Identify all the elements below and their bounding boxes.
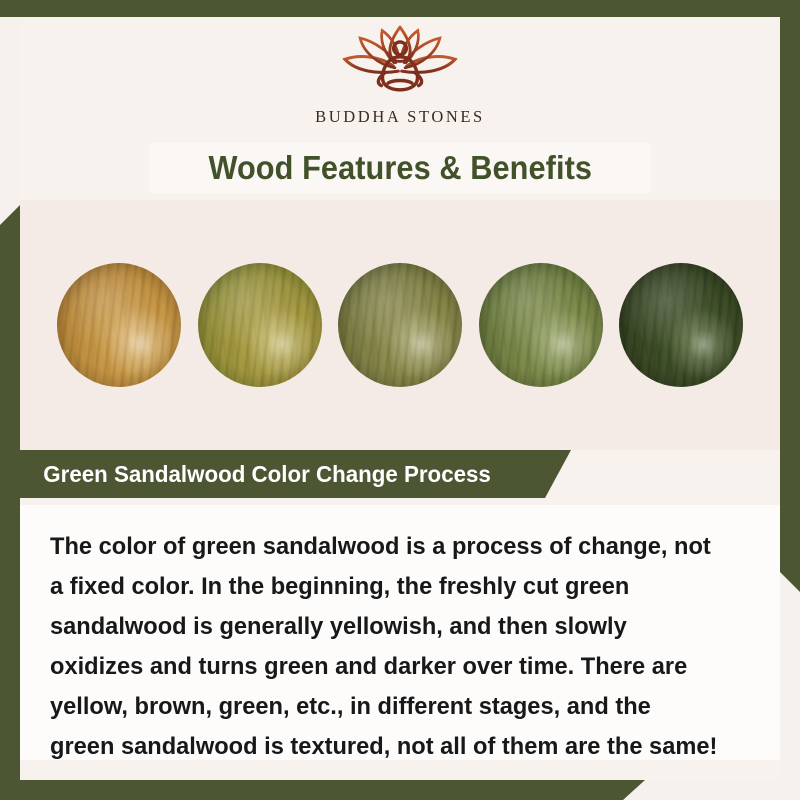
section-banner: Green Sandalwood Color Change Process	[20, 450, 571, 498]
wood-bead-3	[338, 263, 462, 387]
wood-bead-2	[198, 263, 322, 387]
wood-bead-1	[57, 263, 181, 387]
title-banner: Wood Features & Benefits	[149, 143, 651, 193]
brand-name: BUDDHA STONES	[315, 107, 485, 127]
infographic-page: BUDDHA STONES Wood Features & Benefits G…	[0, 0, 800, 800]
section-title: Green Sandalwood Color Change Process	[20, 461, 491, 488]
bead-highlight	[479, 263, 603, 387]
wood-bead-5	[619, 263, 743, 387]
bead-highlight	[57, 263, 181, 387]
page-title: Wood Features & Benefits	[208, 149, 592, 187]
bead-highlight	[198, 263, 322, 387]
description-text: The color of green sandalwood is a proce…	[50, 527, 720, 767]
frame-border-left	[0, 205, 20, 800]
bead-highlight	[338, 263, 462, 387]
frame-border-bottom	[0, 780, 645, 800]
brand-logo-block: BUDDHA STONES	[0, 0, 800, 150]
description-panel: The color of green sandalwood is a proce…	[20, 505, 780, 760]
bead-highlight	[619, 263, 743, 387]
lotus-meditation-icon	[315, 22, 485, 100]
bead-row	[20, 255, 780, 395]
wood-bead-4	[479, 263, 603, 387]
